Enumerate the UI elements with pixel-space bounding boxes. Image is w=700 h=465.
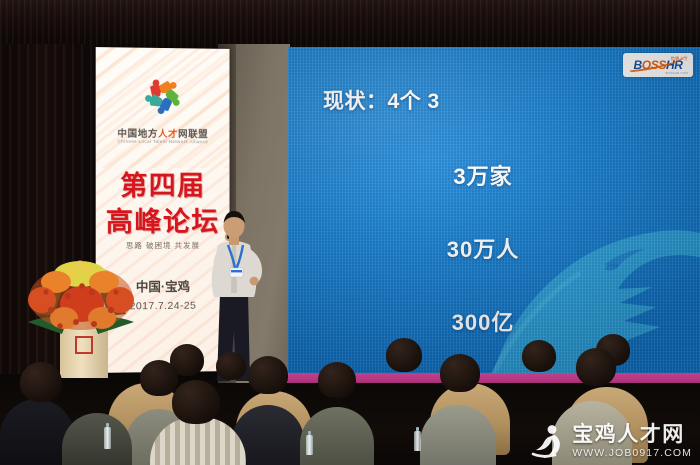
running-person-icon: [531, 423, 565, 459]
water-bottle: [414, 431, 421, 451]
audience-head: [248, 356, 288, 394]
slide-title: 现状：4个 3: [323, 85, 440, 115]
banner-headline-line1: 第四届: [120, 164, 205, 203]
ceiling-curtain: [0, 0, 700, 50]
water-bottle: [104, 427, 111, 449]
watermark-url: WWW.JOB0917.COM: [572, 448, 692, 459]
logo-tagline-en: BOSSHR.COM: [665, 71, 688, 75]
watermark-text: 宝鸡人才网 WWW.JOB0917.COM: [572, 424, 692, 459]
bosshr-logo: BOSSHR 猎聘人才 BOSSHR.COM: [623, 53, 693, 77]
conference-photo-scene: BOSSHR 猎聘人才 BOSSHR.COM 现状：4个 3 3万家 30万人 …: [0, 0, 700, 465]
audience-head: [216, 352, 246, 380]
banner-subtitle: 思路 破困境 共发展: [126, 240, 200, 251]
audience-head: [140, 360, 178, 396]
slide-bullet: 3万家: [453, 159, 512, 191]
watermark-site-name: 宝鸡人才网: [572, 424, 692, 445]
audience-head: [576, 348, 616, 386]
logo-tagline-cn: 猎聘人才: [671, 56, 688, 62]
alliance-logo-icon: [138, 74, 188, 120]
audience-head: [386, 338, 422, 372]
audience-head: [20, 362, 62, 402]
audience-head: [172, 380, 220, 424]
alliance-name-en: Chinese Local Talent Network Alliance: [118, 139, 209, 145]
audience-head: [522, 340, 556, 372]
water-bottle: [306, 435, 313, 455]
audience-head: [440, 354, 480, 392]
site-watermark: 宝鸡人才网 WWW.JOB0917.COM: [531, 423, 692, 459]
audience-head: [318, 362, 356, 398]
slide-bullet: 30万人: [447, 232, 519, 264]
